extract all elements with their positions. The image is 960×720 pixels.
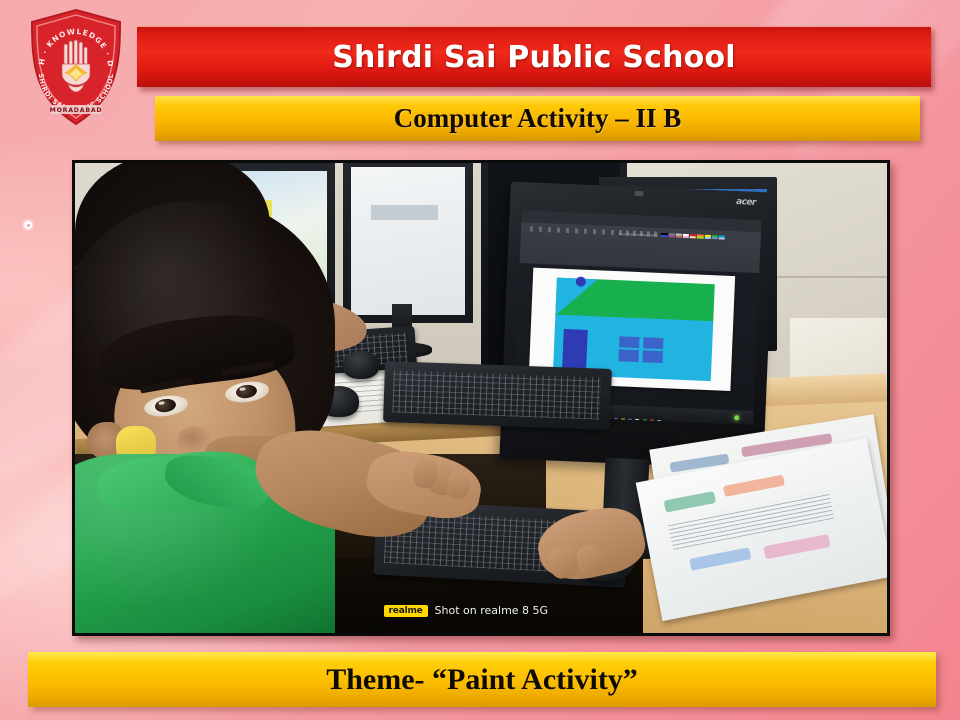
finger (574, 543, 605, 577)
acer-brand-label: acer (736, 197, 756, 208)
taskbar-icon (629, 418, 633, 419)
presentation-slide: FAITH · KNOWLEDGE · DUTY SHIRDI SAI PUBL… (0, 0, 960, 720)
paint-shapes-group (619, 229, 658, 236)
taskbar-icon (650, 419, 654, 420)
palette-swatch (690, 236, 696, 239)
taskbar-icon (621, 418, 625, 419)
palette-swatch (712, 237, 718, 240)
newspaper-graphic (764, 535, 831, 560)
taskbar-icon (657, 420, 661, 421)
palette-swatch (705, 236, 711, 239)
finger (445, 470, 472, 502)
monitor-screen (351, 167, 465, 315)
computer-mouse (343, 351, 380, 379)
realme-brand-badge: realme (384, 605, 428, 617)
rear-monitor-3 (343, 160, 473, 323)
house-door (562, 328, 588, 368)
taskbar-icon (636, 419, 640, 420)
crest-shield-icon: FAITH · KNOWLEDGE · DUTY SHIRDI SAI PUBL… (24, 6, 128, 130)
iris (236, 383, 258, 399)
house-window (619, 335, 664, 362)
iris (155, 398, 177, 414)
paint-tool-group (531, 226, 618, 235)
theme-text: Theme- “Paint Activity” (326, 663, 638, 697)
shot-on-text: Shot on realme 8 5G (435, 604, 549, 617)
theme-banner: Theme- “Paint Activity” (28, 652, 936, 707)
palette-swatch (719, 237, 725, 240)
school-name-text: Shirdi Sai Public School (332, 40, 736, 75)
monitor-sensor (635, 190, 644, 195)
palette-swatch (676, 235, 682, 238)
middle-keyboard (383, 361, 612, 430)
activity-title-text: Computer Activity – II B (394, 103, 682, 134)
power-indicator-led (734, 414, 739, 419)
school-name-banner: Shirdi Sai Public School (137, 26, 931, 87)
newspaper-graphic (664, 491, 717, 513)
window-transom (619, 346, 663, 350)
keyboard-keys (392, 370, 600, 420)
taskbar-icon (643, 419, 647, 420)
camera-watermark: realme Shot on realme 8 5G (384, 604, 549, 617)
svg-text:MORADABAD: MORADABAD (50, 107, 103, 114)
activity-title-banner: Computer Activity – II B (155, 96, 920, 141)
school-crest-logo: FAITH · KNOWLEDGE · DUTY SHIRDI SAI PUBL… (24, 6, 128, 130)
taskbar-icon (614, 418, 618, 419)
palette-swatch (661, 234, 667, 237)
activity-photograph: acer (72, 160, 890, 636)
palette-swatch (683, 235, 689, 238)
newspaper-graphic (689, 547, 752, 571)
background-dot-decoration (24, 221, 32, 229)
palette-swatch (697, 236, 703, 239)
palette-swatch (669, 235, 675, 238)
newspaper-graphic (723, 474, 785, 497)
